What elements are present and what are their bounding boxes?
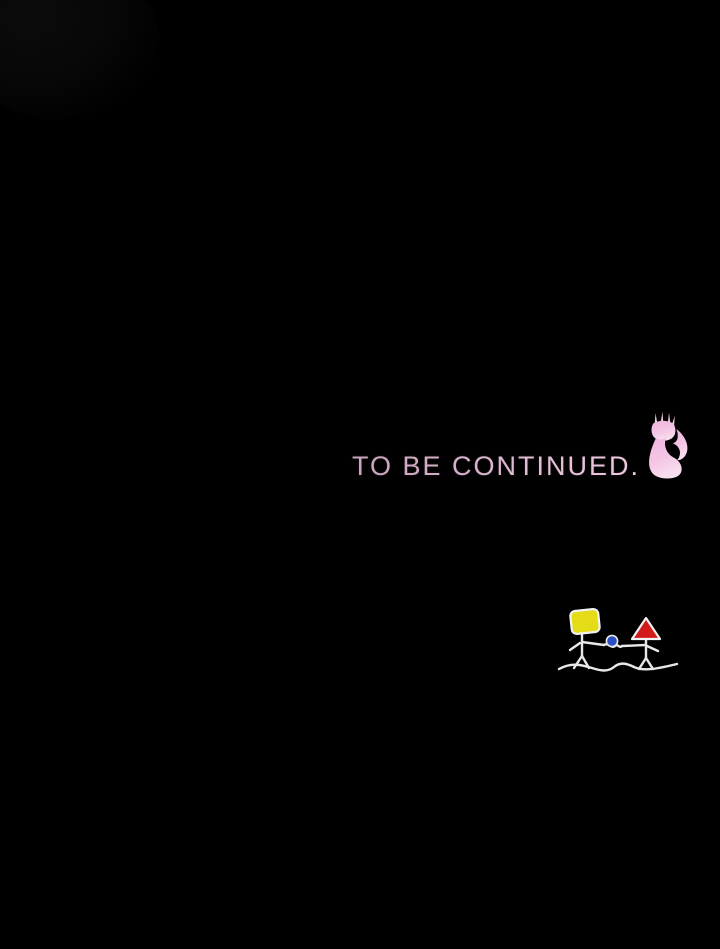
- pink-cat-silhouette-icon: [645, 411, 691, 481]
- end-card-screen: TO BE CONTINUED.: [0, 0, 720, 949]
- stick-figures-doodle-icon: [556, 602, 680, 678]
- to-be-continued-text: TO BE CONTINUED.: [352, 453, 640, 480]
- to-be-continued-group: TO BE CONTINUED.: [352, 408, 691, 484]
- corner-vignette-glow: [0, 0, 160, 120]
